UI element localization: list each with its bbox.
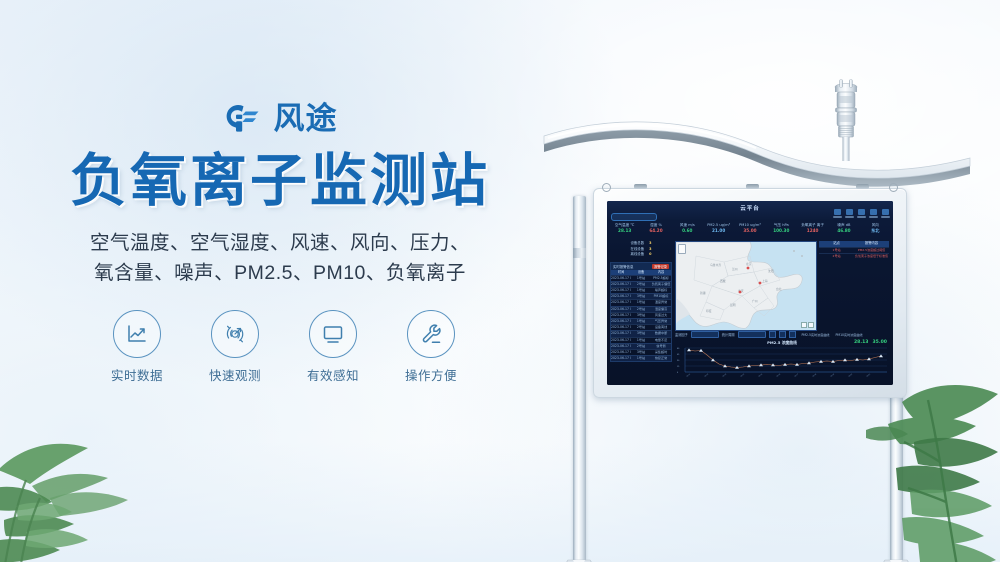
svg-text:06-15: 06-15 (758, 373, 763, 377)
feature-circle (407, 310, 455, 358)
display-screen[interactable]: 云平台 (607, 201, 893, 385)
feature-item-fast-observation[interactable]: 快速观测 (204, 310, 266, 384)
table-row[interactable]: 2023-06-17 06:05 1号站 电量不足 (611, 337, 671, 343)
svg-text:06-12: 06-12 (704, 373, 709, 377)
period-select[interactable] (738, 331, 766, 338)
map-layer-control[interactable] (678, 244, 686, 254)
alarm-table[interactable]: 实时报警信息 报警记录 时间 设备 内容 2023-06-17 08:12 1号… (610, 262, 672, 363)
sensor-list: 空气温度、空气湿度、风速、风向、压力、 氧含量、噪声、PM2.5、PM10、负氧… (0, 228, 560, 288)
chart-controls: 监测因子 统计周期 PM2.5实时浓度曲线 PM10实时浓度曲线 (675, 331, 889, 338)
view-toggle-3[interactable] (789, 331, 796, 338)
radar-observation-icon (223, 322, 247, 346)
toolbar-item[interactable] (833, 209, 842, 218)
sensor-list-line-1: 空气温度、空气湿度、风速、风向、压力、 (0, 228, 560, 258)
metric-card: 噪声 dB 46.80 (828, 223, 859, 234)
svg-text:广州: 广州 (752, 299, 758, 303)
metric-card: 风向 东北 (860, 223, 891, 234)
svg-text:60: 60 (677, 348, 680, 350)
decorative-plant-right (866, 342, 1000, 562)
alert-row[interactable]: 2号站 负氧离子浓度低于标准值 (819, 253, 889, 259)
zoom-out-button[interactable] (808, 322, 814, 328)
monitor-screen-icon (321, 322, 345, 346)
zoom-in-button[interactable] (801, 322, 807, 328)
svg-text:06-20: 06-20 (848, 373, 853, 377)
pole-band-left (573, 248, 586, 258)
table-row[interactable]: 2023-06-17 05:50 2号站 信号弱 (611, 343, 671, 349)
svg-text:06-19: 06-19 (830, 373, 835, 377)
mount-ring-left (602, 183, 611, 192)
device-stats-panel: 设备总数 3 在线设备 3 离线设备 0 实时报警信息 报警记录 (610, 241, 672, 362)
user-icon (870, 209, 877, 215)
table-row[interactable]: 2023-06-17 07:58 1号站 噪声超标 (611, 287, 671, 293)
svg-text:乌鲁木齐: 乌鲁木齐 (710, 263, 721, 267)
dashboard-toolbar[interactable] (833, 209, 890, 218)
svg-text:0: 0 (677, 372, 679, 374)
map-zoom-control[interactable] (801, 322, 814, 328)
toolbar-item[interactable] (845, 209, 854, 218)
logout-icon (882, 209, 889, 215)
svg-text:新疆: 新疆 (700, 291, 706, 295)
settings-icon (846, 209, 853, 215)
feature-item-easy-operation[interactable]: 操作方便 (400, 310, 462, 384)
svg-text:印度: 印度 (706, 309, 712, 313)
svg-text:台北: 台北 (776, 287, 782, 291)
svg-text:06-14: 06-14 (740, 373, 745, 377)
table-row[interactable]: 2023-06-17 08:12 1号站 PM2.5超标 (611, 275, 671, 281)
table-row[interactable]: 2023-06-17 05:35 3号站 采集超时 (611, 349, 671, 355)
feature-label: 快速观测 (204, 365, 266, 384)
svg-text:06-13: 06-13 (722, 373, 727, 377)
factor-select[interactable] (691, 331, 719, 338)
svg-text:西藏: 西藏 (720, 279, 726, 283)
stat-row: 离线设备 0 (610, 252, 672, 258)
table-row[interactable]: 2023-06-17 07:42 3号站 PM10超标 (611, 293, 671, 299)
brand-name: 风途 (274, 103, 338, 134)
alert-row[interactable]: 1号站 PM2.5浓度超过阈值 (819, 247, 889, 253)
toolbar-item[interactable] (881, 209, 890, 218)
table-row[interactable]: 2023-06-17 06:48 1号站 气压异常 (611, 318, 671, 324)
wrench-tool-icon (419, 322, 443, 346)
alarm-icon (834, 209, 841, 215)
table-row[interactable]: 2023-06-17 07:30 1号站 温度异常 (611, 299, 671, 305)
mount-clip-1 (634, 184, 647, 189)
feature-label: 操作方便 (400, 365, 462, 384)
alert-panel-header: 站点 报警内容 (819, 241, 889, 247)
decorative-plant-left (0, 320, 165, 562)
view-toggle-2[interactable] (779, 331, 786, 338)
svg-text:06-11: 06-11 (686, 374, 691, 378)
metric-card: 湿度 % 64.20 (640, 223, 671, 234)
metric-card: 风速 m/s 0.60 (672, 223, 703, 234)
feature-label: 有效感知 (302, 365, 364, 384)
table-row[interactable]: 2023-06-17 07:02 3号站 风速过大 (611, 312, 671, 318)
view-toggle-1[interactable] (769, 331, 776, 338)
table-row[interactable]: 2023-06-17 08:05 2号站 负氧离子偏低 (611, 281, 671, 287)
dashboard: 云平台 (607, 201, 893, 385)
china-map[interactable]: 乌鲁木齐兰州 北京上海 重庆广州 西藏沈阳 新疆昆明 台北印度 (675, 241, 817, 331)
table-row[interactable]: 2023-06-17 07:16 2号站 湿度偏高 (611, 306, 671, 312)
svg-text:沈阳: 沈阳 (768, 269, 774, 273)
sensor-list-line-2: 氧含量、噪声、PM2.5、PM10、负氧离子 (0, 258, 560, 288)
metric-card: 气压 hPa 100.30 (766, 223, 797, 234)
svg-text:45: 45 (677, 354, 680, 356)
chart-plot: 6045 30150 (675, 346, 889, 380)
svg-text:15: 15 (677, 366, 680, 368)
svg-text:北京: 北京 (746, 262, 752, 266)
feature-circle (309, 310, 357, 358)
table-row[interactable]: 2023-06-17 06:35 2号站 设备离线 (611, 324, 671, 330)
svg-text:06-18: 06-18 (812, 373, 817, 377)
display-housing: 云平台 (593, 188, 907, 398)
metric-strip: 空气温度 ℃ 28.13 湿度 % 64.20 风速 m/s 0.60 PM2.… (609, 223, 891, 234)
alarm-table-caption: 实时报警信息 报警记录 (611, 263, 671, 270)
table-header: 时间 设备 内容 (611, 270, 671, 275)
mount-clip-2 (746, 184, 759, 189)
table-row[interactable]: 2023-06-17 05:20 1号站 恢复正常 (611, 355, 671, 361)
brand-logo: 风途 (0, 96, 560, 140)
metric-card: 空气温度 ℃ 28.13 (609, 223, 640, 234)
export-icon (858, 209, 865, 215)
wind-cloud-logo-icon (223, 101, 265, 135)
svg-text:上海: 上海 (762, 279, 768, 283)
feature-circle (211, 310, 259, 358)
alert-panel: 站点 报警内容 1号站 PM2.5浓度超过阈值 2号站 负氧离子浓度低于标准值 (819, 241, 889, 259)
svg-text:06-17: 06-17 (794, 373, 799, 377)
trend-chart: PM2.5 浓度曲线 28.13 35.00 (675, 340, 889, 382)
page-title: 负氧离子监测站 (0, 152, 560, 212)
svg-text:06-16: 06-16 (776, 373, 781, 377)
mount-clip-3 (856, 184, 869, 189)
metric-card: PM2.5 ug/m³ 21.00 (703, 223, 734, 234)
dashboard-logo-badge (611, 213, 657, 221)
table-row[interactable]: 2023-06-17 06:20 3号站 数据中断 (611, 330, 671, 336)
metric-card: 负氧离子 离子 1240 (797, 223, 828, 234)
svg-text:昆明: 昆明 (730, 303, 736, 307)
feature-item-effective-sensing[interactable]: 有效感知 (302, 310, 364, 384)
svg-text:兰州: 兰州 (732, 267, 738, 271)
poster-canvas: 风途 负氧离子监测站 空气温度、空气湿度、风速、风向、压力、 氧含量、噪声、PM… (0, 0, 1000, 562)
toolbar-item[interactable] (869, 209, 878, 218)
mount-ring-right (889, 183, 898, 192)
svg-text:30: 30 (677, 360, 680, 362)
base-plate-left (542, 558, 616, 562)
toolbar-item[interactable] (857, 209, 866, 218)
metric-card: PM10 ug/m³ 35.00 (734, 223, 765, 234)
